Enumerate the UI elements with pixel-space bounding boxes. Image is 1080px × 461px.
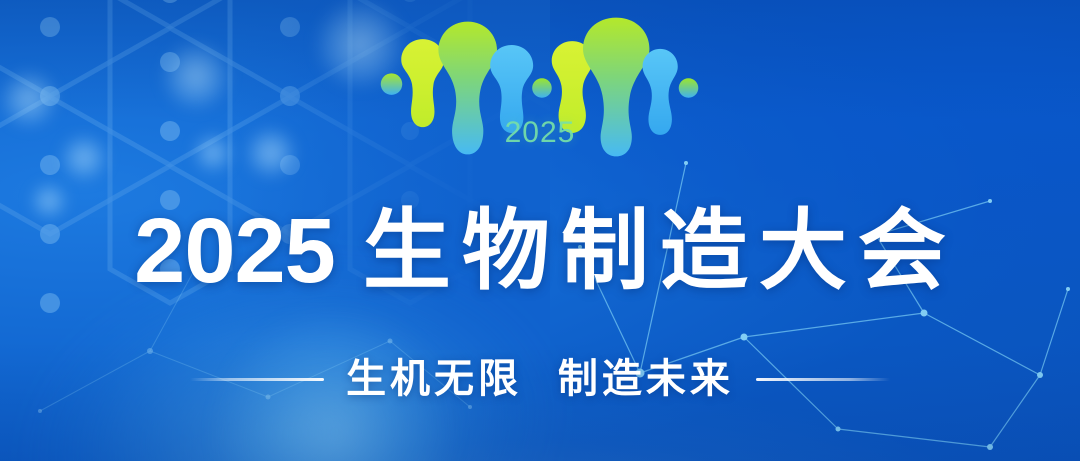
title-chinese: 生物制造大会 [363,207,957,295]
logo-dot-1 [381,73,402,94]
subtitle-text: 生机无限 制造未来 [346,359,734,399]
conference-banner: 2025 2025 生物制造大会 生机无限 制造未来 [0,0,1080,461]
logo-drop-3 [438,22,497,155]
logo-drop-8 [643,49,678,135]
logo-dot-5 [532,78,552,98]
logo-drop-2 [401,39,444,127]
logo-drop-7 [583,18,649,157]
main-title: 2025 生物制造大会 [0,196,1080,306]
subtitle-rule-left [190,378,324,381]
logo-year-label: 2025 [505,116,576,150]
title-year: 2025 [134,205,335,297]
subtitle-rule-right [756,378,890,381]
logo-dot-9 [679,78,699,98]
subtitle-row: 生机无限 制造未来 [0,348,1080,410]
